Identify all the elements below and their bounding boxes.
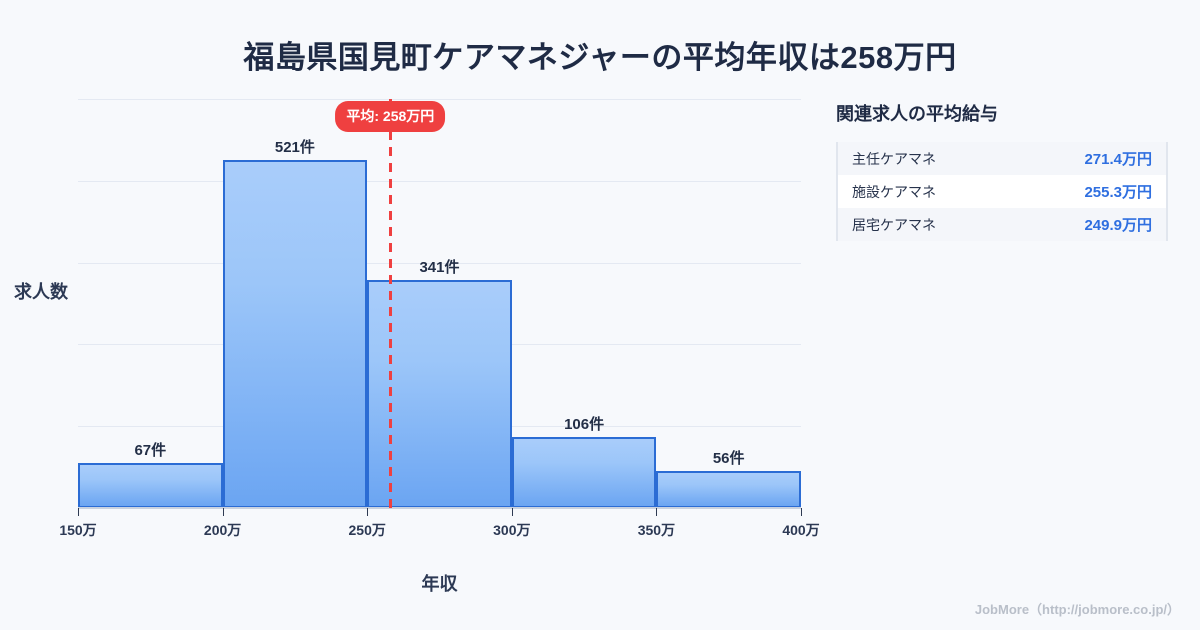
x-axis-tick-label: 300万 bbox=[493, 520, 530, 540]
x-axis-tick-label: 250万 bbox=[349, 520, 386, 540]
bar[interactable] bbox=[656, 471, 801, 508]
x-axis-tick-label: 150万 bbox=[59, 520, 96, 540]
bar[interactable] bbox=[78, 463, 223, 508]
chart-plot-area: 67件521件341件106件56件 bbox=[78, 99, 801, 508]
x-axis-tick-label: 200万 bbox=[204, 520, 241, 540]
bar-value-label: 521件 bbox=[223, 136, 368, 157]
gridline bbox=[78, 99, 801, 100]
salary-row[interactable]: 主任ケアマネ271.4万円 bbox=[838, 142, 1166, 175]
x-axis-tick bbox=[78, 508, 79, 516]
average-line bbox=[389, 99, 392, 508]
x-axis-tick bbox=[801, 508, 802, 516]
bar-value-label: 56件 bbox=[656, 447, 801, 468]
side-panel-title: 関連求人の平均給与 bbox=[836, 100, 1176, 126]
y-axis-title: 求人数 bbox=[14, 278, 68, 304]
page-title: 福島県国見町ケアマネジャーの平均年収は258万円 bbox=[0, 32, 1200, 77]
bar-value-label: 67件 bbox=[78, 439, 223, 460]
bar[interactable] bbox=[512, 437, 657, 508]
x-axis-tick bbox=[367, 508, 368, 516]
salary-row-name: 居宅ケアマネ bbox=[852, 215, 936, 235]
x-axis-tick-label: 400万 bbox=[782, 520, 819, 540]
x-axis-tick bbox=[512, 508, 513, 516]
bar-value-label: 106件 bbox=[512, 413, 657, 434]
average-badge: 平均: 258万円 bbox=[335, 101, 445, 132]
footer-watermark: JobMore（http://jobmore.co.jp/） bbox=[975, 599, 1180, 618]
x-axis-tick bbox=[223, 508, 224, 516]
related-salary-panel: 関連求人の平均給与 主任ケアマネ271.4万円施設ケアマネ255.3万円居宅ケア… bbox=[836, 100, 1176, 241]
salary-row-name: 主任ケアマネ bbox=[852, 149, 936, 169]
salary-row[interactable]: 居宅ケアマネ249.9万円 bbox=[838, 208, 1166, 241]
salary-row-value: 271.4万円 bbox=[1084, 148, 1152, 169]
x-axis-tick-label: 350万 bbox=[638, 520, 675, 540]
salary-table: 主任ケアマネ271.4万円施設ケアマネ255.3万円居宅ケアマネ249.9万円 bbox=[836, 142, 1168, 241]
bar[interactable] bbox=[223, 160, 368, 508]
gridline bbox=[78, 181, 801, 182]
salary-row-value: 249.9万円 bbox=[1084, 214, 1152, 235]
salary-row-name: 施設ケアマネ bbox=[852, 182, 936, 202]
x-axis-baseline bbox=[78, 507, 801, 509]
salary-row-value: 255.3万円 bbox=[1084, 181, 1152, 202]
x-axis-title: 年収 bbox=[78, 570, 801, 596]
salary-row[interactable]: 施設ケアマネ255.3万円 bbox=[838, 175, 1166, 208]
x-axis-tick bbox=[656, 508, 657, 516]
